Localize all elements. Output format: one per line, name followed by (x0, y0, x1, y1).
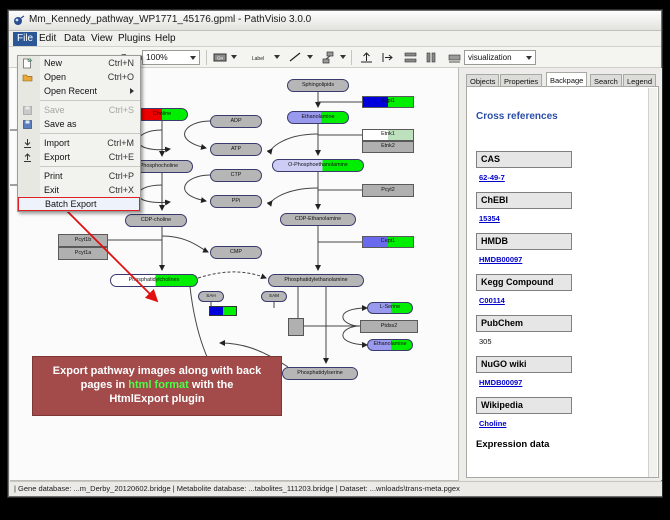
menu-bar: File Edit Data View Plugins Help (9, 31, 661, 47)
xref-value-nugo[interactable]: HMDB00097 (479, 378, 522, 387)
node-etnk1[interactable]: Etnk1 (362, 129, 414, 141)
file-menu-separator-1 (40, 100, 140, 101)
title-bar: Mm_Kennedy_pathway_WP1771_45176.gpml - P… (9, 11, 661, 31)
chevron-down-icon (190, 56, 196, 60)
zoom-value: 100% (146, 52, 168, 62)
node-label: O-Phosphoethanolamine (288, 163, 348, 169)
node-label: Pcyt1b (75, 238, 91, 244)
chevron-down-icon-2 (526, 56, 532, 60)
xref-value-cas[interactable]: 62-49-7 (479, 173, 505, 182)
node-ppi[interactable]: PPi (210, 195, 262, 208)
annotation-line3: HtmlExport plugin (109, 393, 204, 405)
node-label: Ethanolamine (302, 115, 335, 121)
node-ctp[interactable]: CTP (210, 169, 262, 182)
xref-label-wikipedia: Wikipedia (476, 397, 572, 414)
menu-view[interactable]: View (87, 32, 117, 46)
node-sam[interactable]: SAM (261, 291, 287, 302)
file-menu-separator-3 (40, 166, 140, 167)
backpage-content[interactable]: Cross references CAS 62-49-7 ChEBI 15354… (466, 86, 659, 478)
pathvisio-icon (13, 15, 25, 27)
visualization-value: visualization (468, 53, 512, 62)
svg-text:Gn: Gn (217, 56, 224, 61)
node-ethanolamine-bottom[interactable]: Ethanolamine (367, 339, 413, 351)
datanode-tool-icon[interactable]: Gn (212, 50, 229, 65)
file-menu-import-label: Import (44, 138, 70, 148)
import-icon (22, 138, 33, 149)
save-as-icon (22, 119, 33, 130)
xref-label-hmdb: HMDB (476, 233, 572, 250)
node-cdp-choline[interactable]: CDP-choline (125, 214, 187, 227)
xref-value-pubchem: 305 (479, 337, 492, 346)
file-menu-import[interactable]: Import Ctrl+M (18, 136, 140, 150)
label-tool-icon[interactable]: Label (245, 50, 271, 65)
node-label: Choline (153, 112, 171, 118)
node-phosphatidylethanolamine[interactable]: Phosphatidylethanolamine (268, 274, 364, 287)
file-menu-new[interactable]: New Ctrl+N (18, 56, 140, 70)
open-folder-icon (22, 72, 33, 83)
file-menu-batch-export[interactable]: Batch Export (18, 197, 140, 211)
menu-help[interactable]: Help (151, 32, 180, 46)
node-label: Phosphatidylcholines (129, 278, 180, 284)
align-left-icon[interactable] (380, 50, 397, 65)
file-menu-print-accel: Ctrl+P (109, 171, 134, 181)
node-label: CTP (231, 173, 242, 179)
node-ptdss2[interactable]: Ptdss2 (360, 320, 418, 333)
node-label: Phosphatidylserine (297, 371, 343, 377)
node-cmp[interactable]: CMP (210, 246, 262, 259)
expression-data-heading: Expression data (476, 439, 549, 450)
node-label: SAH (206, 294, 215, 299)
node-cdp-ethanolamine[interactable]: CDP-Ethanolamine (280, 213, 356, 226)
file-menu-export-accel: Ctrl+E (109, 152, 134, 162)
file-menu-exit-accel: Ctrl+X (109, 185, 134, 195)
file-menu-save-as[interactable]: Save as (18, 117, 140, 131)
menu-edit[interactable]: Edit (35, 32, 60, 46)
save-disk-icon (22, 105, 33, 116)
node-label: CDP-Ethanolamine (295, 217, 341, 223)
file-menu-open-label: Open (44, 72, 66, 82)
node-label: Phosphocholine (140, 164, 178, 170)
annotation-callout: Export pathway images along with back pa… (32, 356, 282, 416)
file-menu-save-as-label: Save as (44, 119, 77, 129)
file-menu-export-label: Export (44, 152, 70, 162)
annotation-line2-pre: pages in (81, 379, 129, 391)
node-choline[interactable]: Choline (136, 108, 188, 121)
file-menu-separator-2 (40, 133, 140, 134)
node-label: SAM (269, 294, 279, 299)
legend-gradient-box (209, 306, 237, 316)
node-o-phosphoethanolamine[interactable]: O-Phosphoethanolamine (272, 159, 364, 172)
xref-value-hmdb[interactable]: HMDB00097 (479, 255, 522, 264)
file-menu-open-recent[interactable]: Open Recent (18, 84, 140, 98)
node-cept1[interactable]: Cept1 (362, 236, 414, 248)
distribute-vertical-icon[interactable] (402, 50, 419, 65)
svg-text:Label: Label (252, 56, 264, 62)
menu-file[interactable]: File (13, 32, 37, 46)
export-icon (22, 152, 33, 163)
node-label: ADP (230, 119, 241, 125)
node-label: CDP-choline (141, 218, 171, 224)
xref-value-wikipedia[interactable]: Choline (479, 419, 507, 428)
same-width-icon[interactable] (446, 50, 463, 65)
screenshot-root: Mm_Kennedy_pathway_WP1771_45176.gpml - P… (0, 0, 670, 509)
node-label: Cept1 (381, 239, 395, 245)
line-tool-icon[interactable] (287, 50, 304, 65)
xref-value-kegg[interactable]: C00114 (479, 296, 505, 305)
tab-backpage[interactable]: Backpage (546, 72, 587, 87)
xref-label-nugo: NuGO wiki (476, 356, 572, 373)
backpage-scrollbar[interactable] (648, 88, 657, 478)
distribute-horizontal-icon[interactable] (424, 50, 441, 65)
node-pcyt2[interactable]: Pcyt2 (362, 184, 414, 197)
node-pcyt1a[interactable]: Pcyt1a (58, 247, 108, 260)
node-l-serine[interactable]: L-Serine (367, 302, 413, 314)
node-label: Etnk2 (381, 144, 395, 150)
menu-data[interactable]: Data (60, 32, 89, 46)
file-menu-popup[interactable]: New Ctrl+N Open Ctrl+O Open Recent (17, 55, 141, 212)
node-sphingolipids[interactable]: Sphingolipids (287, 79, 349, 92)
xref-label-kegg: Kegg Compound (476, 274, 572, 291)
shape-tool-icon[interactable] (320, 50, 337, 65)
file-menu-open-accel: Ctrl+O (108, 72, 134, 82)
line-dropdown-icon[interactable] (307, 55, 313, 59)
node-label: ATP (231, 147, 241, 153)
interaction-anchor-box (288, 318, 304, 336)
file-menu-export[interactable]: Export Ctrl+E (18, 150, 140, 164)
node-label: CMP (230, 250, 242, 256)
node-sah[interactable]: SAH (198, 291, 224, 302)
node-etnk2[interactable]: Etnk2 (362, 141, 414, 153)
new-file-icon (22, 58, 33, 69)
node-label: Phosphatidylethanolamine (284, 278, 347, 284)
file-menu-save: Save Ctrl+S (18, 103, 140, 117)
window-title: Mm_Kennedy_pathway_WP1771_45176.gpml - P… (29, 14, 311, 25)
file-menu-save-label: Save (44, 105, 65, 115)
node-label: Ethanolamine (374, 342, 407, 348)
node-label: L-Serine (380, 305, 400, 311)
file-menu-exit-label: Exit (44, 185, 59, 195)
node-label: Sgpl1 (381, 99, 395, 105)
status-text: | Gene database: ...m_Derby_20120602.bri… (14, 484, 460, 493)
node-label: PPi (232, 199, 240, 205)
xref-label-pubchem: PubChem (476, 315, 572, 332)
datanode-dropdown-icon[interactable] (231, 55, 237, 59)
file-menu-new-accel: Ctrl+N (108, 58, 134, 68)
chevron-right-icon (130, 88, 134, 94)
annotation-line2-post: with the (189, 379, 234, 391)
menu-plugins[interactable]: Plugins (114, 32, 155, 46)
annotation-line2-highlight: html format (128, 379, 189, 391)
toolbar-separator-2 (351, 50, 352, 65)
file-menu-import-accel: Ctrl+M (107, 138, 134, 148)
node-label: Pcyt1a (75, 251, 91, 257)
shape-dropdown-icon[interactable] (340, 55, 346, 59)
label-dropdown-icon[interactable] (274, 55, 280, 59)
file-menu-open-recent-label: Open Recent (44, 86, 97, 96)
node-sgpl1[interactable]: Sgpl1 (362, 96, 414, 108)
file-menu-open[interactable]: Open Ctrl+O (18, 70, 140, 84)
file-menu-batch-export-label: Batch Export (45, 199, 97, 209)
cross-references-heading: Cross references (476, 111, 558, 122)
node-label: Ptdss2 (381, 324, 397, 330)
align-top-icon[interactable] (358, 50, 375, 65)
file-menu-exit[interactable]: Exit Ctrl+X (18, 183, 140, 197)
toolbar-separator (206, 50, 207, 65)
side-panel-tabs: Objects Properties Backpage Search Legen… (466, 72, 662, 87)
node-phosphatidylcholines[interactable]: Phosphatidylcholines (110, 274, 198, 287)
file-menu-print[interactable]: Print Ctrl+P (18, 169, 140, 183)
file-menu-print-label: Print (44, 171, 63, 181)
pathvisio-window: Mm_Kennedy_pathway_WP1771_45176.gpml - P… (8, 10, 662, 497)
annotation-line1: Export pathway images along with back (53, 365, 261, 377)
xref-label-chebi: ChEBI (476, 192, 572, 209)
node-atp[interactable]: ATP (210, 143, 262, 156)
zoom-combo[interactable]: 100% (142, 50, 200, 65)
xref-label-cas: CAS (476, 151, 572, 168)
file-menu-save-accel: Ctrl+S (109, 105, 134, 115)
file-menu-new-label: New (44, 58, 62, 68)
node-pcyt1b[interactable]: Pcyt1b (58, 234, 108, 247)
xref-value-chebi[interactable]: 15354 (479, 214, 500, 223)
side-panel: Objects Properties Backpage Search Legen… (459, 68, 662, 480)
status-bar: | Gene database: ...m_Derby_20120602.bri… (10, 481, 662, 496)
node-label: Etnk1 (381, 132, 395, 138)
visualization-combo[interactable]: visualization (464, 50, 536, 65)
node-label: Pcyt2 (381, 188, 394, 194)
node-adp[interactable]: ADP (210, 115, 262, 128)
node-phosphatidylserine[interactable]: Phosphatidylserine (282, 367, 358, 380)
node-label: Sphingolipids (302, 83, 334, 89)
node-ethanolamine-top[interactable]: Ethanolamine (287, 111, 349, 124)
